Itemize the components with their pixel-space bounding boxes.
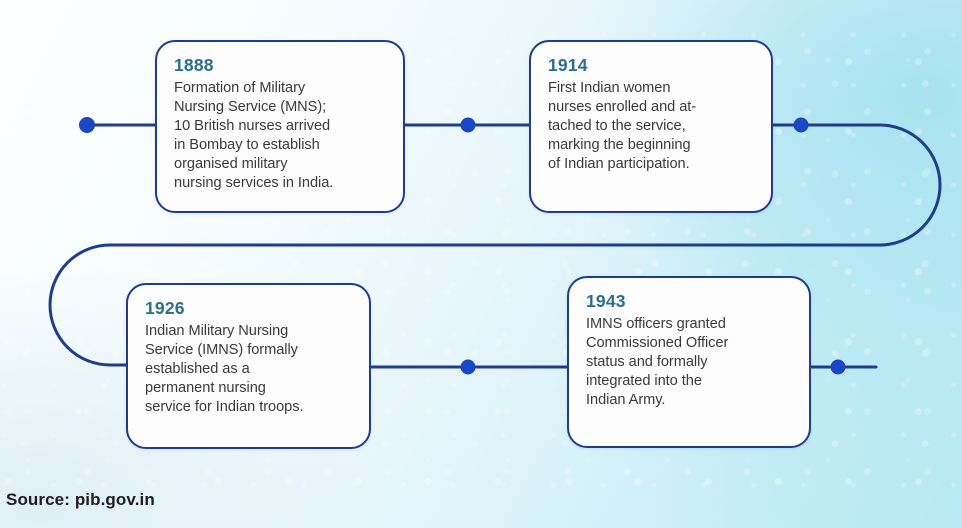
timeline-card-year: 1926: [145, 298, 353, 320]
timeline-card-1914[interactable]: 1914 First Indian women nurses enrolled …: [529, 40, 773, 213]
timeline-card-1943[interactable]: 1943 IMNS officers granted Commissioned …: [567, 276, 811, 448]
timeline-dot-between-1-2: [461, 118, 476, 133]
timeline-dot-start: [79, 117, 95, 133]
timeline-card-text: IMNS officers granted Commissioned Offic…: [586, 315, 793, 410]
timeline-dot-end: [831, 360, 846, 375]
timeline-card-1926[interactable]: 1926 Indian Military Nursing Service (IM…: [126, 283, 371, 449]
timeline-card-year: 1888: [174, 55, 387, 77]
timeline-card-text: Formation of Military Nursing Service (M…: [174, 79, 387, 193]
timeline-card-text: Indian Military Nursing Service (IMNS) f…: [145, 322, 353, 417]
timeline-card-1888[interactable]: 1888 Formation of Military Nursing Servi…: [155, 40, 405, 213]
source-caption: Source: pib.gov.in: [6, 490, 155, 510]
timeline-infographic: 1888 Formation of Military Nursing Servi…: [0, 0, 962, 528]
timeline-dot-after-2: [794, 118, 809, 133]
timeline-card-year: 1914: [548, 55, 755, 77]
timeline-card-year: 1943: [586, 291, 793, 313]
timeline-dot-between-3-4: [461, 360, 476, 375]
timeline-card-text: First Indian women nurses enrolled and a…: [548, 79, 755, 174]
